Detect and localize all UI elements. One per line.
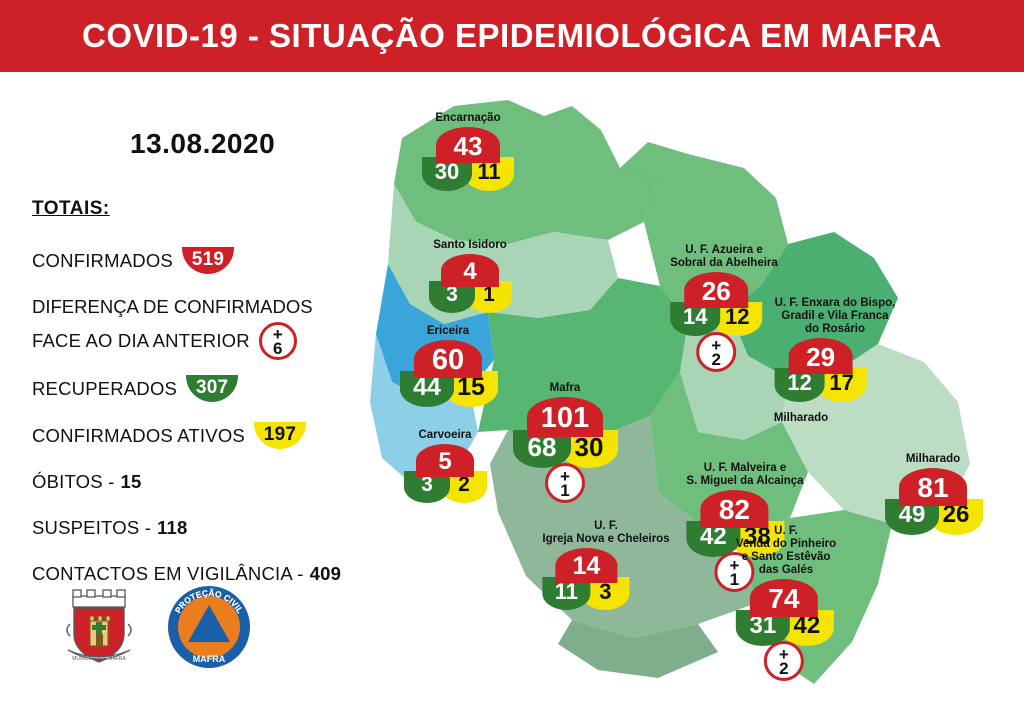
marker-milharado-confirmed: 81 [899, 468, 967, 506]
marker-malveira-alcainca-label: U. F. Malveira e S. Miguel da Alcainça [686, 462, 803, 488]
stat-ativos-badge: 197 [254, 422, 306, 449]
stat-confirmados-badge: 519 [182, 247, 234, 274]
marker-ericeira-label: Ericeira [400, 325, 496, 338]
header-banner: COVID-19 - SITUAÇÃO EPIDEMIOLÓGICA EM MA… [0, 0, 1024, 72]
stat-diferenca-badge: + 6 [259, 322, 297, 360]
marker-ericeira-confirmed: 60 [414, 340, 482, 378]
marker-venda-pinheiro-gales-delta: + 2 [764, 641, 804, 681]
stat-confirmados: CONFIRMADOS 519 [32, 247, 234, 274]
marker-enxara-gradil-vila-franca[interactable]: U. F. Enxara do Bispo, Gradil e Vila Fra… [775, 297, 896, 404]
marker-azueira-sobral-confirmed: 26 [684, 272, 748, 308]
stat-ativos: CONFIRMADOS ATIVOS 197 [32, 422, 306, 449]
stat-obitos-value: 15 [120, 471, 141, 493]
marker-mafra-confirmed: 101 [527, 397, 603, 437]
stat-diferenca-label: FACE AO DIA ANTERIOR [32, 330, 250, 352]
stat-recuperados: RECUPERADOS 307 [32, 375, 238, 402]
stat-recuperados-badge: 307 [186, 375, 238, 402]
marker-venda-pinheiro-gales-label: U. F. Venda do Pinheiro e Santo Estêvão … [736, 525, 836, 577]
marker-igreja-nova-cheleiros-label: U. F. Igreja Nova e Cheleiros [542, 520, 669, 546]
delta-value: 6 [273, 341, 283, 356]
stat-vigilancia: CONTACTOS EM VIGILÂNCIA - 409 [32, 563, 341, 585]
marker-azueira-sobral-label: U. F. Azueira e Sobral da Abelheira [670, 244, 778, 270]
marker-azueira-sobral-delta: + 2 [696, 332, 736, 372]
stat-obitos-label: ÓBITOS - [32, 471, 114, 493]
marker-mafra-label: Mafra [513, 382, 617, 395]
marker-ericeira[interactable]: Ericeira 60 44 15 [400, 325, 496, 408]
marker-carvoeira-label: Carvoeira [404, 429, 486, 442]
stat-diferenca: FACE AO DIA ANTERIOR + 6 [32, 322, 297, 360]
delta-value: 2 [779, 661, 788, 677]
marker-azueira-sobral[interactable]: U. F. Azueira e Sobral da Abelheira 26 1… [670, 244, 778, 376]
stat-vigilancia-value: 409 [310, 563, 341, 585]
stat-suspeitos-value: 118 [157, 517, 187, 539]
report-date: 13.08.2020 [130, 128, 275, 160]
marker-venda-pinheiro-gales[interactable]: U. F. Venda do Pinheiro e Santo Estêvão … [736, 525, 836, 687]
marker-encarnacao-confirmed: 43 [436, 127, 500, 163]
region-label-milharado: Milharado [774, 412, 828, 425]
stat-suspeitos: SUSPEITOS - 118 [32, 517, 188, 539]
stat-diferenca-line1: DIFERENÇA DE CONFIRMADOS [32, 294, 313, 319]
marker-carvoeira[interactable]: Carvoeira 5 3 2 [404, 429, 486, 506]
municipio-de-mafra-coat-of-arms-icon: MUNICÍPIO DE MAFRA [60, 584, 138, 670]
totals-heading: TOTAIS: [32, 198, 110, 220]
marker-igreja-nova-cheleiros-confirmed: 14 [555, 548, 617, 583]
marker-enxara-gradil-vila-franca-confirmed: 29 [789, 338, 853, 374]
delta-value: 2 [711, 352, 720, 368]
marker-encarnacao-label: Encarnação [422, 112, 514, 125]
marker-santo-isidoro-confirmed: 4 [441, 254, 499, 287]
marker-santo-isidoro-label: Santo Isidoro [429, 239, 511, 252]
stat-suspeitos-label: SUSPEITOS - [32, 517, 151, 539]
mafra-municipality-map: Milharado Encarnação 43 30 11 Santo Isid… [358, 72, 1024, 724]
svg-text:MAFRA: MAFRA [193, 654, 226, 664]
stat-obitos: ÓBITOS - 15 [32, 471, 141, 493]
svg-text:MUNICÍPIO DE MAFRA: MUNICÍPIO DE MAFRA [72, 655, 126, 662]
sidebar-statistics: 13.08.2020 TOTAIS: CONFIRMADOS 519 DIFER… [0, 72, 372, 724]
stat-recuperados-label: RECUPERADOS [32, 378, 177, 400]
stat-confirmados-label: CONFIRMADOS [32, 250, 173, 272]
page-title: COVID-19 - SITUAÇÃO EPIDEMIOLÓGICA EM MA… [82, 17, 942, 55]
marker-milharado[interactable]: Milharado 81 49 26 [885, 453, 981, 536]
marker-mafra-delta: + 1 [545, 463, 585, 503]
stat-ativos-label: CONFIRMADOS ATIVOS [32, 425, 245, 447]
marker-mafra[interactable]: Mafra 101 68 30 + 1 [513, 382, 617, 509]
marker-enxara-gradil-vila-franca-label: U. F. Enxara do Bispo, Gradil e Vila Fra… [775, 297, 896, 336]
stat-vigilancia-label: CONTACTOS EM VIGILÂNCIA - [32, 563, 304, 585]
marker-carvoeira-confirmed: 5 [416, 444, 474, 477]
marker-venda-pinheiro-gales-confirmed: 74 [750, 579, 818, 617]
delta-value: 1 [560, 483, 569, 499]
marker-malveira-alcainca-confirmed: 82 [700, 490, 768, 528]
marker-igreja-nova-cheleiros[interactable]: U. F. Igreja Nova e Cheleiros 14 11 3 [542, 520, 669, 612]
marker-encarnacao[interactable]: Encarnação 43 30 11 [422, 112, 514, 193]
marker-santo-isidoro[interactable]: Santo Isidoro 4 3 1 [429, 239, 511, 316]
protecao-civil-mafra-icon: PROTEÇÃO CIVIL PROTEÇÃO CIVIL MAFRA [166, 584, 244, 670]
logo-row: MUNICÍPIO DE MAFRA PROTEÇÃO CIVIL PROTEÇ… [60, 584, 244, 670]
marker-milharado-label: Milharado [885, 453, 981, 466]
